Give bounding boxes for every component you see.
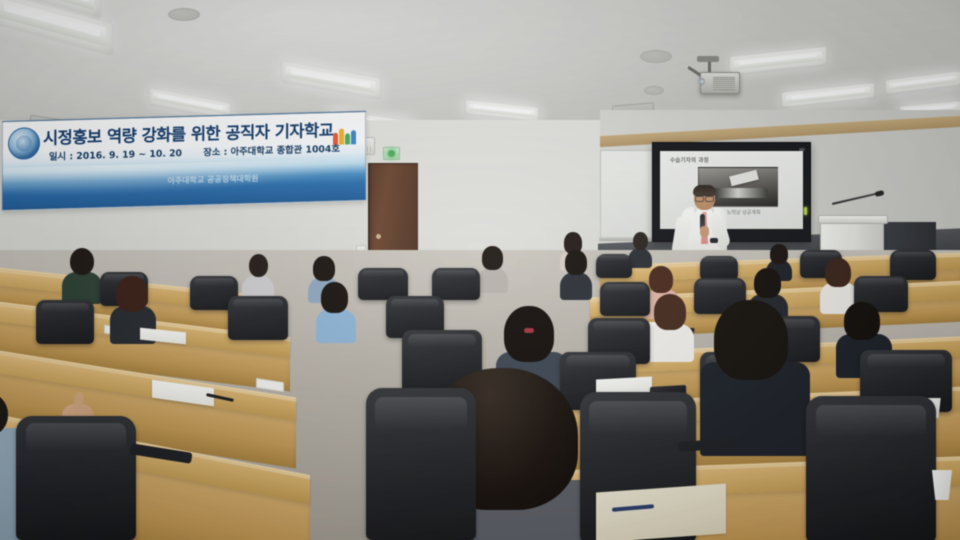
- hair-tie-icon: [524, 328, 534, 333]
- screen-power-led-icon: [804, 207, 807, 215]
- attendee-head: [70, 248, 94, 275]
- projector-lens: [699, 78, 705, 85]
- glasses-icon: [695, 195, 714, 200]
- attendee-hair: [504, 306, 554, 362]
- chair[interactable]: [806, 396, 936, 540]
- attendee-hair: [565, 250, 587, 275]
- attendee-hair: [313, 256, 335, 281]
- attendee-hair: [770, 244, 788, 264]
- slide-photo-paper: [729, 170, 759, 186]
- ceiling-speaker: [644, 86, 664, 95]
- chair[interactable]: [16, 416, 136, 540]
- attendee-torso: [316, 309, 356, 343]
- emergency-exit-sign-icon: [383, 147, 400, 160]
- attendee-hair: [714, 300, 788, 380]
- wristwatch-icon: [710, 238, 718, 243]
- attendee-head: [249, 254, 268, 277]
- attendee-hair: [844, 302, 880, 340]
- attendee-hair: [654, 294, 686, 330]
- attendee-hair: [649, 266, 673, 293]
- chair[interactable]: [700, 256, 738, 280]
- chair[interactable]: [228, 296, 288, 340]
- projector-ceiling-plate: [697, 56, 719, 62]
- chair[interactable]: [432, 268, 480, 300]
- ceiling-projector: [700, 72, 740, 94]
- chair[interactable]: [36, 300, 94, 344]
- chair[interactable]: [600, 282, 650, 316]
- ceiling-speaker: [640, 50, 672, 63]
- attendee-torso: [560, 272, 592, 300]
- attendee-hair: [321, 282, 348, 313]
- banner-place: 장소 : 아주대학교 종합관 1004호: [203, 144, 340, 159]
- presenter-hand: [700, 226, 709, 237]
- attendee-hair: [754, 268, 781, 298]
- attendee: [316, 282, 356, 340]
- notebook: [596, 483, 726, 540]
- attendee-torso: [478, 267, 508, 293]
- ceiling-speaker: [168, 8, 200, 21]
- whiteboard: [600, 150, 657, 238]
- attendee: [242, 254, 274, 298]
- chair[interactable]: [596, 254, 632, 278]
- banner-date: 일시 : 2016. 9. 19 ~ 10. 20: [49, 148, 182, 163]
- city-emblem-icon: [8, 127, 40, 160]
- attendee-hair: [825, 258, 851, 287]
- attendee-foreground-right: [700, 300, 810, 450]
- attendee: [560, 250, 592, 296]
- attendee: [478, 246, 508, 290]
- slide-title: 수습기자의 과정: [670, 156, 709, 164]
- lecture-hall-photo: 시정홍보 역량 강화를 위한 공직자 기자학교 일시 : 2016. 9. 19…: [0, 0, 960, 540]
- lectern-top: [818, 215, 888, 224]
- attendee-hair: [482, 246, 503, 270]
- attendee-hair: [116, 276, 148, 312]
- attendee: [62, 248, 102, 300]
- attendee-head: [633, 232, 648, 250]
- attendee: [648, 294, 694, 358]
- door-knob-icon[interactable]: [376, 234, 381, 239]
- chair[interactable]: [366, 388, 476, 540]
- event-banner: 시정홍보 역량 강화를 위한 공직자 기자학교 일시 : 2016. 9. 19…: [2, 111, 366, 211]
- projector-vent-grill: [713, 77, 735, 90]
